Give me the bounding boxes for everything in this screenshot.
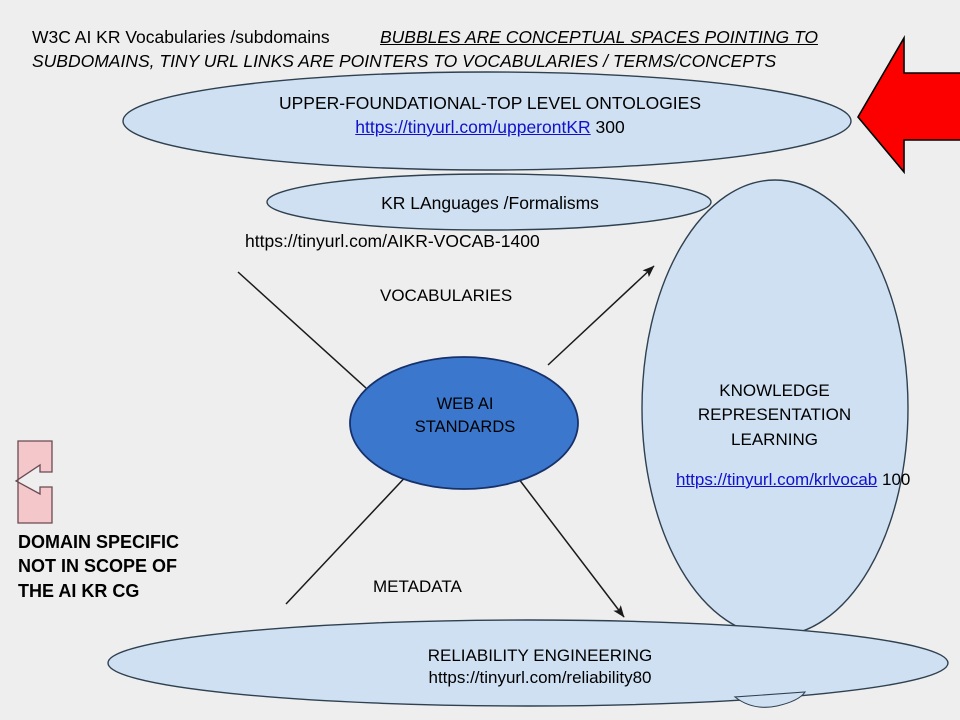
connector-upper-left [238,272,366,388]
metadata-label: METADATA [373,577,462,597]
domain-note-line-3: THE AI KR CG [18,579,179,603]
kr-learning-line-3: LEARNING [672,428,877,452]
web-ai-standards-label-group: WEB AI STANDARDS [355,393,575,440]
reliability-label-group: RELIABILITY ENGINEERING https://tinyurl.… [320,645,760,690]
upper-ontologies-link[interactable]: https://tinyurl.com/upperontKR [355,117,590,137]
connector-lower-right [512,470,624,617]
connector-upper-right [548,266,654,365]
web-ai-standards-line-1: WEB AI [355,393,575,416]
upper-ontologies-label-group: UPPER-FOUNDATIONAL-TOP LEVEL ONTOLOGIES … [130,92,850,139]
web-ai-standards-line-2: STANDARDS [355,416,575,439]
kr-learning-line-2: REPRESENTATION [672,403,877,427]
domain-specific-note: DOMAIN SPECIFIC NOT IN SCOPE OF THE AI K… [18,530,179,603]
upper-ontologies-link-row: https://tinyurl.com/upperontKR 300 [130,116,850,140]
kr-languages-title: KR LAnguages /Formalisms [280,193,700,214]
arrow-left-red-icon [858,38,960,172]
aikr-vocab-url: https://tinyurl.com/AIKR-VOCAB-1400 [245,231,540,252]
vocabularies-label: VOCABULARIES [380,286,512,306]
reliability-title: RELIABILITY ENGINEERING [320,645,760,667]
arrow-left-pink-icon [16,441,52,523]
reliability-url: https://tinyurl.com/reliability80 [320,667,760,689]
header-line-1-italic: BUBBLES ARE CONCEPTUAL SPACES POINTING T… [380,27,818,48]
kr-learning-line-1: KNOWLEDGE [672,379,877,403]
upper-ontologies-count: 300 [596,117,625,137]
domain-note-line-1: DOMAIN SPECIFIC [18,530,179,554]
kr-learning-count: 100 [882,470,910,489]
header-line-1-plain: W3C AI KR Vocabularies /subdomains [32,27,330,48]
upper-ontologies-title: UPPER-FOUNDATIONAL-TOP LEVEL ONTOLOGIES [130,92,850,116]
diagram-canvas: W3C AI KR Vocabularies /subdomains BUBBL… [0,0,960,720]
domain-note-line-2: NOT IN SCOPE OF [18,554,179,578]
kr-learning-link[interactable]: https://tinyurl.com/krlvocab [676,470,877,489]
kr-learning-link-group: https://tinyurl.com/krlvocab 100 [676,468,873,492]
header-line-2-italic: SUBDOMAINS, TINY URL LINKS ARE POINTERS … [32,51,776,72]
kr-learning-title-group: KNOWLEDGE REPRESENTATION LEARNING [672,379,877,452]
